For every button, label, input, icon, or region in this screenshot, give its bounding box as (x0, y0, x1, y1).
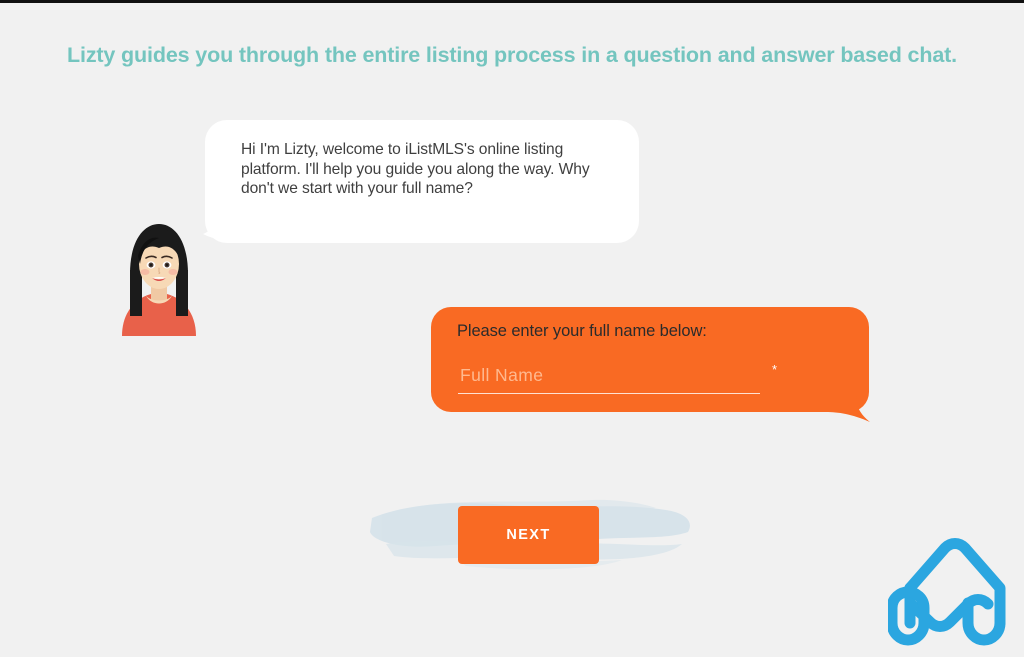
top-strip (0, 0, 1024, 3)
house-logo (888, 518, 1016, 650)
house-logo-icon (888, 518, 1016, 650)
required-asterisk: * (772, 363, 777, 376)
page-headline: Lizty guides you through the entire list… (0, 43, 1024, 68)
next-button[interactable]: NEXT (458, 506, 599, 564)
bot-bubble-tail (199, 212, 245, 246)
full-name-prompt-label: Please enter your full name below: (457, 322, 707, 341)
bot-message-text: Hi I'm Lizty, welcome to iListMLS's onli… (241, 140, 613, 199)
avatar (120, 218, 198, 336)
avatar-illustration (120, 218, 198, 336)
bot-chat-bubble: Hi I'm Lizty, welcome to iListMLS's onli… (205, 120, 639, 243)
full-name-field-wrapper (458, 365, 760, 394)
user-bubble-tail (826, 396, 874, 424)
full-name-input[interactable] (458, 365, 760, 394)
